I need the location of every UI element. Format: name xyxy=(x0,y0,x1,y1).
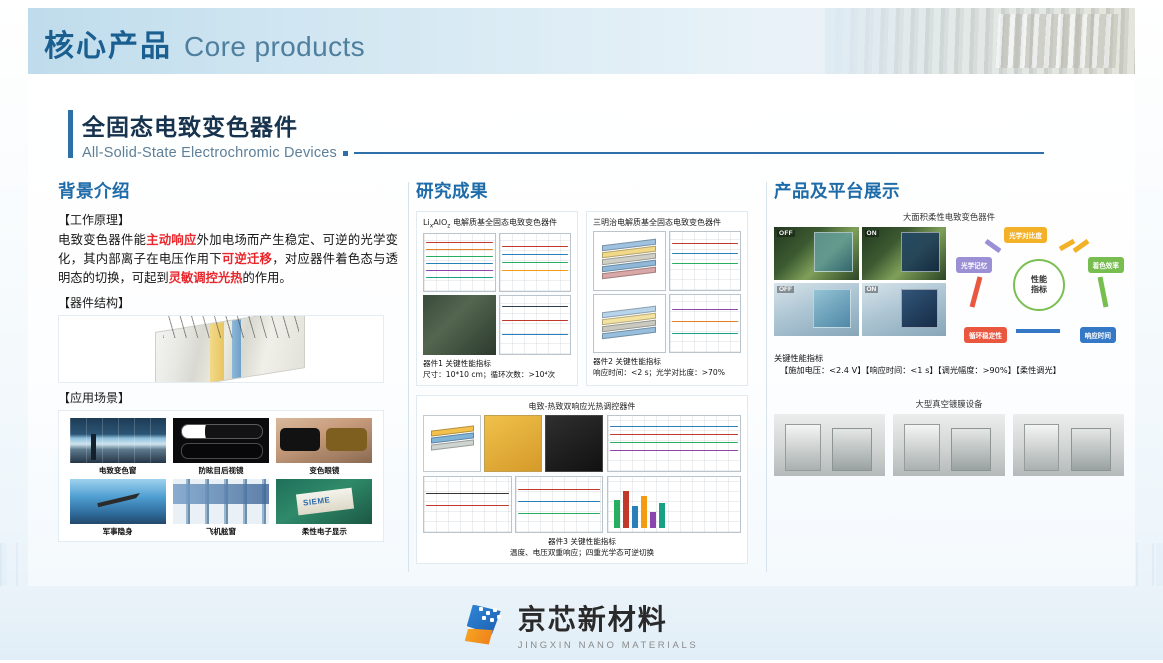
product-photo-off-leaf: OFF xyxy=(774,227,859,280)
device1-plot-d-curves xyxy=(502,298,569,352)
device3-caption-line1: 器件3 关键性能指标 xyxy=(423,536,741,547)
device2-plot-b-curves xyxy=(672,234,739,288)
flexible-device-photo-grid: OFF ON OFF ON xyxy=(774,227,946,336)
equipment-title: 大型真空镀膜设备 xyxy=(774,398,1124,410)
device1-formula-pre: Li xyxy=(423,218,430,227)
application-item: 电致变色窗 xyxy=(69,418,166,476)
device1-plot-d xyxy=(499,295,572,355)
application-caption: 军事隐身 xyxy=(103,526,133,537)
device1-plot-a-curves xyxy=(426,236,493,290)
background-heading: 背景介绍 xyxy=(58,178,398,203)
flexible-device-title: 大面积柔性电致变色器件 xyxy=(774,211,1124,223)
principle-highlight-3: 灵敏调控光热 xyxy=(169,271,243,285)
research-panel-device3: 电致-热致双响应光热调控器件 xyxy=(416,395,748,564)
product-metrics-line2: 【施加电压：<2.4 V】【响应时间：<1 s】【调光幅度：>90%】【柔性调光… xyxy=(780,364,1124,376)
header-title-cn: 核心产品 xyxy=(44,29,172,64)
application-item: 防眩目后视镜 xyxy=(172,418,269,476)
section-rule-line xyxy=(354,152,1044,154)
product-photo-on-glass: ON xyxy=(862,283,947,336)
device1-caption-line2: 尺寸：10*10 cm；循环次数：>10⁴次 xyxy=(423,369,571,380)
performance-radial-diagram: 光学对比度 光学记忆 着色效率 循环稳定性 响应时间 性能 指标 xyxy=(956,227,1124,345)
product-photo-off-glass: OFF xyxy=(774,283,859,336)
brand-name-en: JINGXIN NANO MATERIALS xyxy=(518,640,699,651)
photo-tag-on: ON xyxy=(865,230,879,237)
research-heading: 研究成果 xyxy=(416,178,756,203)
application-photo-military-stealth xyxy=(70,479,166,524)
application-photo-photochromic-glasses xyxy=(276,418,372,463)
device1-plot-b-curves xyxy=(502,236,569,290)
application-photo-flexible-display xyxy=(276,479,372,524)
photo-pane-clear xyxy=(813,289,850,327)
device2-title: 三明治电解质基全固态电致变色器件 xyxy=(593,217,741,228)
flexible-device-row: OFF ON OFF ON xyxy=(774,227,1124,345)
application-photo-electrochromic-window xyxy=(70,418,166,463)
application-grid: 电致变色窗 防眩目后视镜 变色眼镜 军事隐身 xyxy=(69,418,373,537)
section-accent-bar xyxy=(68,110,73,158)
products-heading: 产品及平台展示 xyxy=(774,178,1124,203)
column-products: 产品及平台展示 大面积柔性电致变色器件 OFF ON OFF xyxy=(774,178,1124,476)
brand-text-group: 京芯新材料 JINGXIN NANO MATERIALS xyxy=(518,598,699,651)
application-caption: 变色眼镜 xyxy=(309,465,339,476)
slide-root: 核心产品Core products 全固态电致变色器件 All-Solid-St… xyxy=(0,0,1163,663)
device2-plot-b xyxy=(669,231,742,291)
device3-plot-e-curves xyxy=(610,418,738,469)
research-top-row: LixAlOz 电解质基全固态电致变色器件 xyxy=(416,211,756,386)
equipment-photo-3 xyxy=(1013,414,1124,476)
device3-schematic-a xyxy=(423,415,481,472)
application-caption: 防眩目后视镜 xyxy=(198,465,243,476)
product-metrics-line1: 关键性能指标 xyxy=(774,352,1124,364)
application-photo-aircraft-window xyxy=(173,479,269,524)
application-item: 变色眼镜 xyxy=(276,418,373,476)
device3-photo-b1 xyxy=(484,415,542,472)
section-title-en: All-Solid-State Electrochromic Devices xyxy=(82,145,337,161)
photo-pane-tinted xyxy=(901,232,940,271)
device3-photo-b2 xyxy=(545,415,603,472)
slide-header: 核心产品Core products xyxy=(28,8,1135,74)
device2-stack-a xyxy=(593,231,666,291)
logo-orange-shape xyxy=(465,629,493,645)
radial-arrows xyxy=(956,227,1124,345)
application-label: 【应用场景】 xyxy=(58,389,398,406)
principle-text-4: 的作用。 xyxy=(242,271,291,285)
column-research: 研究成果 LixAlOz 电解质基全固态电致变色器件 xyxy=(416,178,756,564)
application-caption: 电致变色窗 xyxy=(99,465,137,476)
device3-plot-c xyxy=(423,476,512,533)
photo-pane-clear xyxy=(814,232,853,271)
principle-paragraph: 电致变色器件能主动响应外加电场而产生稳定、可逆的光学变化，其内部离子在电压作用下… xyxy=(58,231,398,288)
device3-plot-d xyxy=(515,476,604,533)
photo-tag-off: OFF xyxy=(777,286,794,293)
application-item: 飞机舷窗 xyxy=(172,479,269,537)
device3-plot-d-curves xyxy=(518,479,601,530)
research-panel-device1: LixAlOz 电解质基全固态电致变色器件 xyxy=(416,211,578,386)
application-item: 柔性电子显示 xyxy=(276,479,373,537)
section-title-cn: 全固态电致变色器件 xyxy=(82,108,1044,142)
section-subtitle-row: All-Solid-State Electrochromic Devices xyxy=(82,145,1044,161)
photo-tag-on: ON xyxy=(865,286,879,293)
slide-footer: 京芯新材料 JINGXIN NANO MATERIALS xyxy=(0,586,1163,663)
photo-pane-tinted xyxy=(901,289,938,327)
device1-caption-line1: 器件1 关键性能指标 xyxy=(423,358,571,369)
section-rule-dot xyxy=(343,151,348,156)
application-caption: 飞机舷窗 xyxy=(206,526,236,537)
column-divider-1 xyxy=(408,182,409,572)
device2-plot-d-curves xyxy=(672,297,739,351)
principle-label: 【工作原理】 xyxy=(58,211,398,228)
device1-title-rest: 电解质基全固态电致变色器件 xyxy=(450,218,557,227)
device1-formula-mid: AlO xyxy=(433,218,447,227)
device2-figure xyxy=(593,231,741,353)
equipment-photo-1 xyxy=(774,414,885,476)
column-background: 背景介绍 【工作原理】 电致变色器件能主动响应外加电场而产生稳定、可逆的光学变化… xyxy=(58,178,398,542)
device2-plot-d xyxy=(669,294,742,354)
photo-tag-off: OFF xyxy=(777,230,795,237)
equipment-photo-2 xyxy=(893,414,1004,476)
application-gallery: 电致变色窗 防眩目后视镜 变色眼镜 军事隐身 xyxy=(58,410,384,542)
device3-plot-c-curves xyxy=(426,479,509,530)
brand-name-cn: 京芯新材料 xyxy=(518,598,699,638)
device3-bar-chart xyxy=(607,476,741,533)
device1-figure xyxy=(423,233,571,355)
structure-label: 【器件结构】 xyxy=(58,294,398,311)
application-caption: 柔性电子显示 xyxy=(302,526,347,537)
logo-mark-icon xyxy=(465,605,509,645)
application-item: 军事隐身 xyxy=(69,479,166,537)
product-photo-on-leaf: ON xyxy=(862,227,947,280)
application-photo-anti-glare-mirror xyxy=(173,418,269,463)
device-stack-leader-lines xyxy=(163,315,299,338)
equipment-photo-row xyxy=(774,414,1124,476)
device3-plot-e xyxy=(607,415,741,472)
column-divider-2 xyxy=(766,182,767,572)
device-structure-figure xyxy=(58,315,384,383)
device1-plot-b xyxy=(499,233,572,293)
header-title-en: Core products xyxy=(184,31,365,62)
device2-caption-line2: 响应时间：<2 s；光学对比度：>70% xyxy=(593,367,741,378)
slide-body-card: 全固态电致变色器件 All-Solid-State Electrochromic… xyxy=(28,74,1135,586)
principle-highlight-1: 主动响应 xyxy=(146,233,196,247)
device3-title: 电致-热致双响应光热调控器件 xyxy=(423,401,741,412)
device3-caption-line2: 温度、电压双重响应；四重光学态可逆切换 xyxy=(423,547,741,558)
device1-photo-c xyxy=(423,295,496,355)
principle-text-1: 电致变色器件能 xyxy=(58,233,146,247)
device1-plot-a xyxy=(423,233,496,293)
section-title-group: 全固态电致变色器件 All-Solid-State Electrochromic… xyxy=(68,108,1044,161)
header-title-group: 核心产品Core products xyxy=(28,8,1135,65)
device1-title: LixAlOz 电解质基全固态电致变色器件 xyxy=(423,217,571,230)
device2-caption-line1: 器件2 关键性能指标 xyxy=(593,356,741,367)
device3-figure xyxy=(423,415,741,533)
principle-highlight-2: 可逆迁移 xyxy=(222,252,272,266)
research-panel-device2: 三明治电解质基全固态电致变色器件 xyxy=(586,211,748,386)
brand-logo: 京芯新材料 JINGXIN NANO MATERIALS xyxy=(465,598,699,651)
device2-stack-c xyxy=(593,294,666,354)
